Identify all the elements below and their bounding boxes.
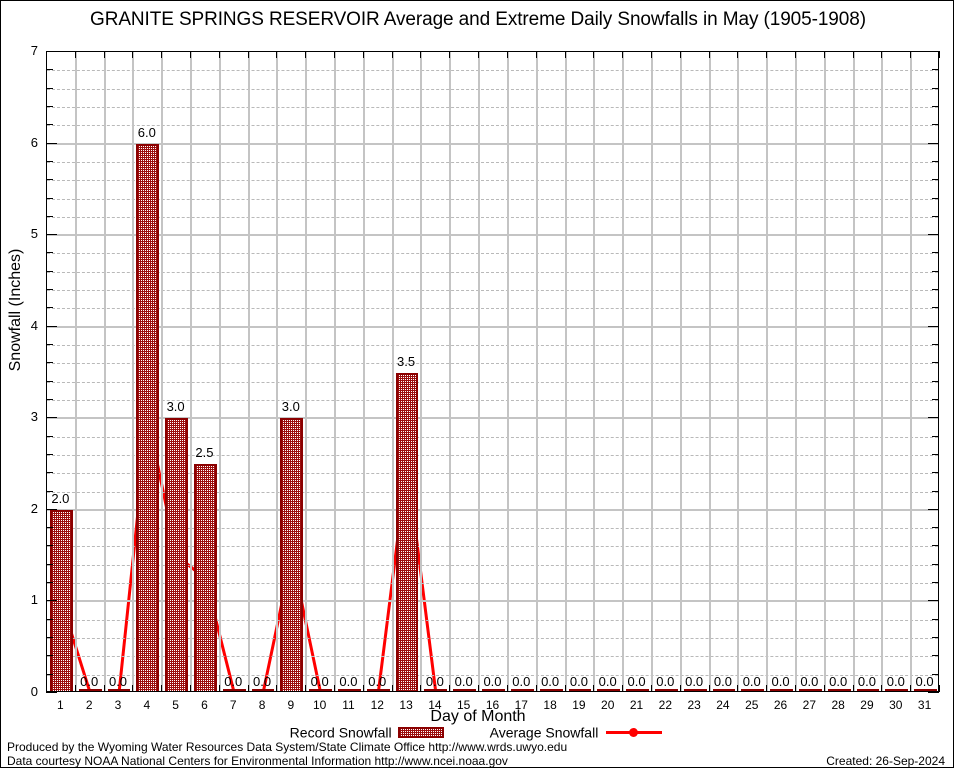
x-axis-tick-label: 24 xyxy=(708,698,738,712)
x-axis-tick-top xyxy=(737,51,738,58)
y-axis-tick xyxy=(46,692,57,693)
bar-value-label: 0.0 xyxy=(242,674,282,689)
footer-courtesy-text: Data courtesy NOAA National Centers for … xyxy=(7,754,508,768)
y-axis-tick-right xyxy=(932,161,939,162)
record-snowfall-bar xyxy=(857,689,880,691)
y-axis-tick xyxy=(46,454,53,455)
record-snowfall-bar xyxy=(338,689,361,691)
x-axis-tick-top xyxy=(824,51,825,58)
y-axis-tick-right xyxy=(928,326,939,327)
y-axis-tick xyxy=(46,399,53,400)
y-axis-tick xyxy=(46,655,53,656)
y-axis-tick-right xyxy=(932,637,939,638)
x-axis-tick-top xyxy=(478,51,479,58)
y-axis-tick xyxy=(46,216,53,217)
y-axis-tick xyxy=(46,564,53,565)
gridline-vertical xyxy=(392,52,394,691)
gridline-vertical xyxy=(507,52,509,691)
y-axis-tick-right xyxy=(932,491,939,492)
x-axis-tick-label: 5 xyxy=(161,698,191,712)
y-axis-tick-right xyxy=(932,344,939,345)
plot-area xyxy=(46,51,939,692)
gridline-vertical xyxy=(910,52,912,691)
gridline-horizontal-minor xyxy=(47,125,938,127)
y-axis-tick-right xyxy=(932,271,939,272)
bar-value-label: 2.0 xyxy=(40,491,80,506)
y-axis-tick-right xyxy=(932,198,939,199)
y-axis-tick-label: 3 xyxy=(1,409,38,424)
x-axis-tick-bottom xyxy=(161,685,162,692)
bar-value-label: 0.0 xyxy=(357,674,397,689)
y-axis-tick-right xyxy=(932,655,939,656)
x-axis-tick-top xyxy=(363,51,364,58)
x-axis-tick-top xyxy=(219,51,220,58)
x-axis-tick-label: 19 xyxy=(564,698,594,712)
x-axis-tick-top xyxy=(305,51,306,58)
y-axis-tick xyxy=(46,307,53,308)
x-axis-tick-label: 20 xyxy=(593,698,623,712)
gridline-horizontal-major xyxy=(47,326,938,328)
y-axis-tick-right xyxy=(928,509,939,510)
y-axis-tick-right xyxy=(932,88,939,89)
x-axis-tick-top xyxy=(622,51,623,58)
y-axis-tick-label: 4 xyxy=(1,318,38,333)
y-axis-tick-right xyxy=(932,454,939,455)
gridline-horizontal-minor xyxy=(47,382,938,384)
y-axis-tick-right xyxy=(932,362,939,363)
y-axis-tick-right xyxy=(928,234,939,235)
x-axis-tick-top xyxy=(795,51,796,58)
gridline-vertical xyxy=(478,52,480,691)
x-axis-tick-top xyxy=(939,51,940,58)
y-axis-tick-right xyxy=(932,527,939,528)
y-axis-tick xyxy=(46,179,53,180)
y-axis-tick xyxy=(46,472,53,473)
y-axis-tick xyxy=(46,51,57,52)
gridline-vertical xyxy=(709,52,711,691)
gridline-vertical xyxy=(853,52,855,691)
y-axis-tick xyxy=(46,436,53,437)
footer-producer-text: Produced by the Wyoming Water Resources … xyxy=(7,740,567,754)
gridline-horizontal-minor xyxy=(47,290,938,292)
gridline-vertical xyxy=(593,52,595,691)
record-snowfall-bar xyxy=(684,689,707,691)
x-axis-tick-label: 10 xyxy=(305,698,335,712)
gridline-vertical xyxy=(305,52,307,691)
y-axis-tick-right xyxy=(932,289,939,290)
record-snowfall-bar xyxy=(828,689,851,691)
x-axis-tick-top xyxy=(104,51,105,58)
bar-value-label: 3.0 xyxy=(156,399,196,414)
x-axis-tick-label: 15 xyxy=(449,698,479,712)
y-axis-tick-right xyxy=(932,619,939,620)
x-axis-tick-top xyxy=(853,51,854,58)
y-axis-tick xyxy=(46,198,53,199)
legend-label-average: Average Snowfall xyxy=(490,724,599,740)
x-axis-tick-label: 26 xyxy=(766,698,796,712)
x-axis-tick-top xyxy=(910,51,911,58)
bar-value-label: 3.5 xyxy=(386,354,426,369)
y-axis-tick-right xyxy=(932,381,939,382)
record-snowfall-bar xyxy=(396,373,419,693)
x-axis-tick-top xyxy=(161,51,162,58)
y-axis-tick xyxy=(46,124,53,125)
x-axis-tick-top xyxy=(190,51,191,58)
x-axis-tick-top xyxy=(766,51,767,58)
y-axis-tick-right xyxy=(932,399,939,400)
y-axis-tick xyxy=(46,582,53,583)
x-axis-tick-label: 4 xyxy=(132,698,162,712)
y-axis-tick xyxy=(46,289,53,290)
x-axis-tick-label: 8 xyxy=(247,698,277,712)
y-axis-tick-right xyxy=(932,124,939,125)
x-axis-tick-top xyxy=(248,51,249,58)
x-axis-tick-top xyxy=(680,51,681,58)
x-axis-tick-top xyxy=(276,51,277,58)
x-axis-tick-top xyxy=(507,51,508,58)
bar-value-label: 0.0 xyxy=(98,674,138,689)
y-axis-tick xyxy=(46,600,57,601)
gridline-horizontal-minor xyxy=(47,199,938,201)
x-axis-tick-label: 14 xyxy=(420,698,450,712)
record-snowfall-bar xyxy=(453,689,476,691)
gridline-vertical xyxy=(881,52,883,691)
y-axis-tick-right xyxy=(932,436,939,437)
record-snowfall-bar xyxy=(511,689,534,691)
y-axis-tick-right xyxy=(932,472,939,473)
x-axis-tick-top xyxy=(651,51,652,58)
y-axis-tick xyxy=(46,545,53,546)
gridline-horizontal-minor xyxy=(47,70,938,72)
gridline-vertical xyxy=(219,52,221,691)
record-snowfall-bar xyxy=(569,689,592,691)
record-snowfall-bar xyxy=(424,689,447,691)
y-axis-tick xyxy=(46,381,53,382)
x-axis-tick-label: 2 xyxy=(74,698,104,712)
x-axis-tick-label: 9 xyxy=(276,698,306,712)
gridline-horizontal-minor xyxy=(47,272,938,274)
x-axis-tick-top xyxy=(392,51,393,58)
record-snowfall-bar xyxy=(482,689,505,691)
chart-page: GRANITE SPRINGS RESERVOIR Average and Ex… xyxy=(0,0,954,768)
y-axis-tick xyxy=(46,88,53,89)
x-axis-tick-top xyxy=(565,51,566,58)
gridline-horizontal-minor xyxy=(47,345,938,347)
gridline-vertical xyxy=(824,52,826,691)
record-snowfall-bar xyxy=(626,689,649,691)
y-axis-tick-right xyxy=(932,216,939,217)
y-axis-tick xyxy=(46,271,53,272)
x-axis-tick-label: 7 xyxy=(218,698,248,712)
gridline-horizontal-minor xyxy=(47,253,938,255)
gridline-horizontal-minor xyxy=(47,363,938,365)
y-axis-tick xyxy=(46,417,57,418)
x-axis-tick-label: 21 xyxy=(622,698,652,712)
record-snowfall-bar xyxy=(741,689,764,691)
record-snowfall-bar xyxy=(885,689,908,691)
y-axis-tick-label: 6 xyxy=(1,135,38,150)
y-axis-tick xyxy=(46,106,53,107)
record-snowfall-bar xyxy=(194,464,217,692)
gridline-horizontal-minor xyxy=(47,308,938,310)
y-axis-tick-right xyxy=(928,692,939,693)
x-axis-tick-label: 12 xyxy=(362,698,392,712)
gridline-horizontal-minor xyxy=(47,162,938,164)
gridline-vertical xyxy=(651,52,653,691)
record-snowfall-bar xyxy=(367,689,390,691)
y-axis-tick-right xyxy=(932,179,939,180)
y-axis-tick-right xyxy=(932,69,939,70)
x-axis-tick-label: 11 xyxy=(333,698,363,712)
legend-swatch-record xyxy=(398,727,444,738)
x-axis-tick-bottom xyxy=(190,685,191,692)
y-axis-tick-label: 2 xyxy=(1,501,38,516)
record-snowfall-bar xyxy=(79,689,102,691)
gridline-vertical xyxy=(565,52,567,691)
bar-value-label: 6.0 xyxy=(127,125,167,140)
y-axis-tick-right xyxy=(932,564,939,565)
bar-value-label: 0.0 xyxy=(905,674,945,689)
record-snowfall-bar xyxy=(252,689,275,691)
y-axis-tick-label: 0 xyxy=(1,684,38,699)
record-snowfall-bar xyxy=(280,418,303,692)
record-snowfall-bar xyxy=(108,689,131,691)
y-axis-tick xyxy=(46,344,53,345)
gridline-vertical xyxy=(75,52,77,691)
y-axis-tick xyxy=(46,674,53,675)
x-axis-tick-label: 25 xyxy=(737,698,767,712)
x-axis-tick-bottom xyxy=(46,685,47,692)
legend-label-record: Record Snowfall xyxy=(290,724,392,740)
x-axis-tick-label: 22 xyxy=(650,698,680,712)
y-axis-tick xyxy=(46,527,53,528)
x-axis-tick-top xyxy=(334,51,335,58)
record-snowfall-bar xyxy=(223,689,246,691)
y-axis-tick xyxy=(46,619,53,620)
x-axis-tick-label: 28 xyxy=(823,698,853,712)
gridline-vertical xyxy=(795,52,797,691)
legend-line-average xyxy=(606,726,662,738)
gridline-horizontal-major xyxy=(47,143,938,145)
record-snowfall-bar xyxy=(713,689,736,691)
gridline-vertical xyxy=(766,52,768,691)
x-axis-tick-top xyxy=(132,51,133,58)
record-snowfall-bar xyxy=(770,689,793,691)
y-axis-tick xyxy=(46,143,57,144)
y-axis-tick-right xyxy=(932,106,939,107)
gridline-horizontal-minor xyxy=(47,89,938,91)
x-axis-tick-label: 27 xyxy=(794,698,824,712)
record-snowfall-bar xyxy=(309,689,332,691)
record-snowfall-bar xyxy=(914,689,937,691)
x-axis-tick-label: 23 xyxy=(679,698,709,712)
y-axis-tick xyxy=(46,637,53,638)
gridline-vertical xyxy=(248,52,250,691)
chart-legend: Record SnowfallAverage Snowfall xyxy=(1,723,954,740)
x-axis-tick-top xyxy=(449,51,450,58)
x-axis-tick-label: 29 xyxy=(852,698,882,712)
y-axis-tick xyxy=(46,326,57,327)
gridline-vertical xyxy=(132,52,134,691)
y-axis-tick-label: 5 xyxy=(1,226,38,241)
record-snowfall-bar xyxy=(597,689,620,691)
gridline-vertical xyxy=(161,52,163,691)
y-axis-tick-right xyxy=(932,545,939,546)
y-axis-tick xyxy=(46,234,57,235)
footer-created-date: Created: 26-Sep-2024 xyxy=(826,754,945,768)
gridline-horizontal-minor xyxy=(47,107,938,109)
gridline-vertical xyxy=(737,52,739,691)
bar-value-label: 2.5 xyxy=(184,445,224,460)
x-axis-tick-top xyxy=(420,51,421,58)
x-axis-tick-label: 16 xyxy=(478,698,508,712)
y-axis-tick-label: 7 xyxy=(1,43,38,58)
gridline-vertical xyxy=(363,52,365,691)
gridline-horizontal-major xyxy=(47,234,938,236)
y-axis-tick-label: 1 xyxy=(1,592,38,607)
record-snowfall-bar xyxy=(136,144,159,692)
y-axis-tick xyxy=(46,69,53,70)
y-axis-tick-right xyxy=(928,417,939,418)
x-axis-tick-label: 30 xyxy=(881,698,911,712)
chart-title: GRANITE SPRINGS RESERVOIR Average and Ex… xyxy=(1,9,954,31)
y-axis-tick-right xyxy=(932,252,939,253)
record-snowfall-bar xyxy=(799,689,822,691)
x-axis-tick-label: 17 xyxy=(506,698,536,712)
y-axis-tick-right xyxy=(928,143,939,144)
y-axis-tick-right xyxy=(928,51,939,52)
y-axis-tick xyxy=(46,161,53,162)
x-axis-tick-label: 18 xyxy=(535,698,565,712)
gridline-vertical xyxy=(449,52,451,691)
record-snowfall-bar xyxy=(540,689,563,691)
gridline-vertical xyxy=(104,52,106,691)
gridline-vertical xyxy=(536,52,538,691)
gridline-vertical xyxy=(276,52,278,691)
record-snowfall-bar xyxy=(655,689,678,691)
x-axis-tick-label: 3 xyxy=(103,698,133,712)
x-axis-tick-top xyxy=(593,51,594,58)
x-axis-tick-top xyxy=(709,51,710,58)
bar-value-label: 3.0 xyxy=(271,399,311,414)
x-axis-tick-top xyxy=(75,51,76,58)
x-axis-tick-label: 31 xyxy=(910,698,940,712)
x-axis-tick-top xyxy=(881,51,882,58)
y-axis-tick-right xyxy=(932,307,939,308)
y-axis-tick-right xyxy=(928,600,939,601)
y-axis-tick-right xyxy=(932,582,939,583)
x-axis-tick-label: 1 xyxy=(45,698,75,712)
gridline-horizontal-minor xyxy=(47,180,938,182)
y-axis-tick xyxy=(46,252,53,253)
x-axis-tick-label: 13 xyxy=(391,698,421,712)
gridline-horizontal-minor xyxy=(47,217,938,219)
y-axis-tick xyxy=(46,509,57,510)
gridline-vertical xyxy=(334,52,336,691)
gridline-vertical xyxy=(680,52,682,691)
x-axis-tick-top xyxy=(46,51,47,58)
x-axis-tick-top xyxy=(536,51,537,58)
gridline-vertical xyxy=(420,52,422,691)
gridline-vertical xyxy=(190,52,192,691)
y-axis-tick xyxy=(46,362,53,363)
gridline-vertical xyxy=(622,52,624,691)
x-axis-tick-label: 6 xyxy=(189,698,219,712)
